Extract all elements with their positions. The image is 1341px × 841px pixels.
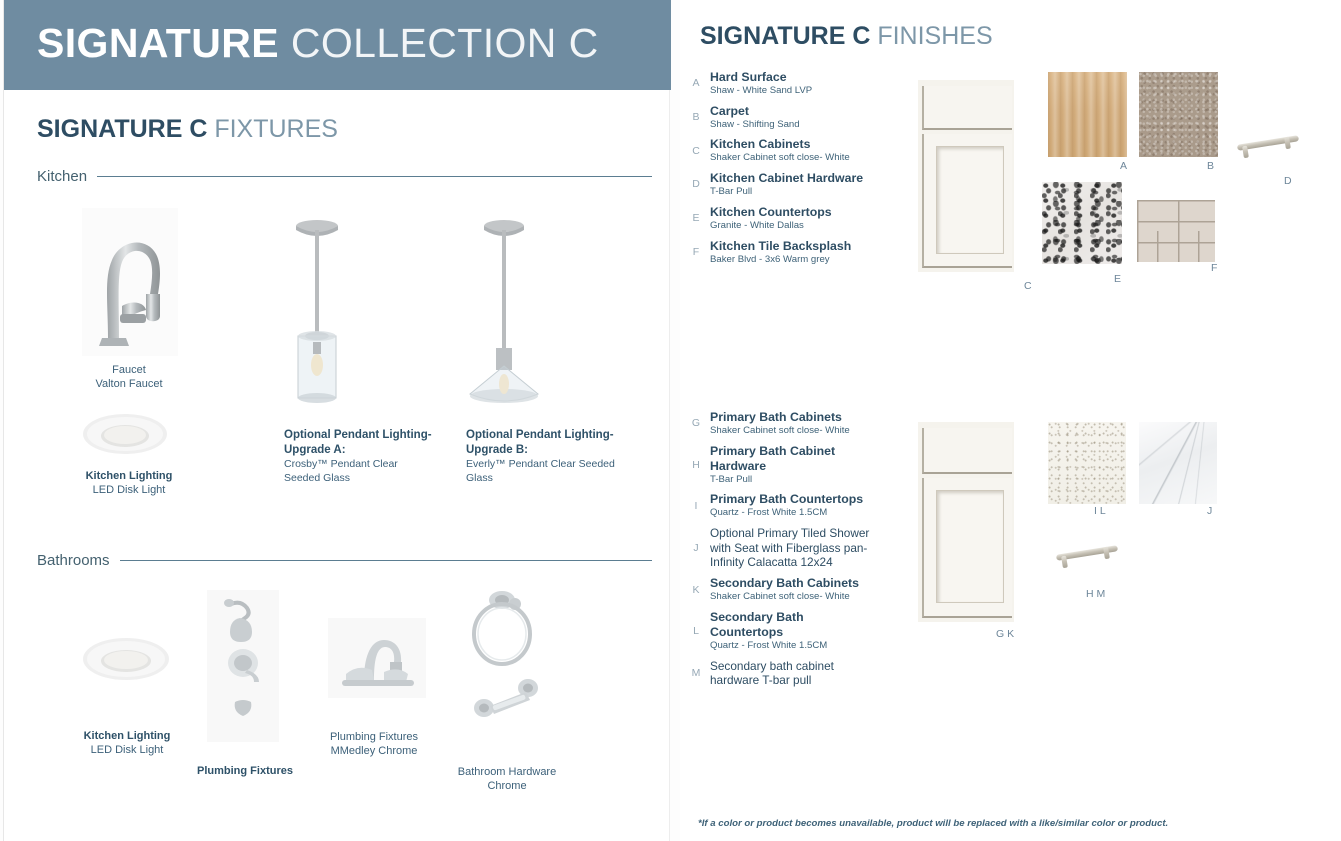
- bath-disk-light-image: [82, 630, 170, 688]
- kitchen-lighting-caption: Kitchen Lighting LED Disk Light: [64, 470, 194, 498]
- legend-item-e[interactable]: E Kitchen Countertops Granite - White Da…: [690, 205, 880, 232]
- swatch-kitchen-hardware[interactable]: [1233, 128, 1303, 162]
- pendant-a-name: Optional Pendant Lighting- Upgrade A:: [284, 428, 434, 458]
- faucet-name: Faucet: [64, 364, 194, 378]
- legend-item-g[interactable]: G Primary Bath Cabinets Shaker Cabinet s…: [690, 410, 880, 437]
- legend-item-d[interactable]: D Kitchen Cabinet Hardware T-Bar Pull: [690, 171, 880, 198]
- legend-item-b[interactable]: B Carpet Shaw - Shifting Sand: [690, 104, 880, 131]
- disclaimer-footnote: *If a color or product becomes unavailab…: [698, 818, 1168, 829]
- finishes-heading-light: FINISHES: [877, 22, 992, 50]
- plumbing-fixtures-lav-sub: MMedley Chrome: [309, 745, 439, 759]
- legend-key: K: [690, 576, 702, 603]
- bath-lighting-caption: Kitchen Lighting LED Disk Light: [62, 730, 192, 758]
- disk-light-icon: [82, 630, 170, 688]
- towel-ring-image: [456, 582, 556, 742]
- lav-faucet-image: [328, 618, 426, 698]
- legend-sub: Shaw - White Sand LVP: [710, 85, 812, 97]
- bathrooms-section-rule: Bathrooms: [37, 552, 652, 569]
- swatch-label-c: C: [1024, 280, 1032, 292]
- swatch-label-a: A: [1120, 160, 1127, 172]
- swatch-hard-surface[interactable]: [1048, 72, 1127, 157]
- legend-name: Kitchen Tile Backsplash: [710, 239, 851, 254]
- t-bar-pull-icon: [1052, 538, 1122, 572]
- fixtures-heading-light: FIXTURES: [214, 115, 338, 143]
- bathrooms-rule-line: [120, 560, 652, 561]
- swatch-label-gk: G K: [996, 628, 1014, 640]
- legend-key: I: [690, 492, 702, 519]
- legend-key: C: [690, 137, 702, 164]
- cabinet-drawer-face: [922, 428, 1012, 474]
- swatch-label-j: J: [1207, 505, 1212, 517]
- pendant-b-sub: Everly™ Pendant Clear Seeded Glass: [466, 458, 616, 485]
- legend-sub: Quartz - Frost White 1.5CM: [710, 640, 880, 652]
- legend-item-c[interactable]: C Kitchen Cabinets Shaker Cabinet soft c…: [690, 137, 880, 164]
- swatch-label-f: F: [1211, 262, 1217, 274]
- hero-title-light: COLLECTION C: [291, 20, 599, 66]
- legend-item-j[interactable]: J Optional Primary Tiled Shower with Sea…: [690, 526, 880, 569]
- pendant-a-image: [282, 208, 352, 404]
- legend-name: Primary Bath Cabinet Hardware: [710, 444, 880, 474]
- kitchen-lighting-name: Kitchen Lighting: [64, 470, 194, 484]
- legend-name: Kitchen Cabinet Hardware: [710, 171, 863, 186]
- legend-item-f[interactable]: F Kitchen Tile Backsplash Baker Blvd - 3…: [690, 239, 880, 266]
- lav-faucet-icon: [328, 618, 426, 698]
- cabinet-drawer-face: [922, 86, 1012, 130]
- hero-title: SIGNATURE COLLECTION C: [37, 20, 599, 67]
- shower-trim-image: [207, 590, 279, 742]
- legend-item-i[interactable]: I Primary Bath Countertops Quartz - Fros…: [690, 492, 880, 519]
- cabinet-door-face: [922, 134, 1012, 268]
- legend-item-m[interactable]: M Secondary bath cabinet hardware T-bar …: [690, 659, 880, 688]
- legend-name: Primary Bath Cabinets: [710, 410, 850, 425]
- kitchen-section-label: Kitchen: [37, 168, 87, 185]
- legend-item-k[interactable]: K Secondary Bath Cabinets Shaker Cabinet…: [690, 576, 880, 603]
- faucet-sub: Valton Faucet: [64, 378, 194, 392]
- fixtures-heading: SIGNATURE C FIXTURES: [37, 115, 338, 144]
- legend-sub: T-Bar Pull: [710, 474, 880, 486]
- towel-ring-icon: [456, 582, 556, 742]
- swatch-bath-hardware[interactable]: [1052, 538, 1122, 572]
- legend-name: Kitchen Countertops: [710, 205, 832, 220]
- swatch-kitchen-cabinet[interactable]: [918, 80, 1014, 272]
- kitchen-lighting-sub: LED Disk Light: [64, 484, 194, 498]
- finishes-panel: SIGNATURE C FINISHES A Hard Surface Shaw…: [680, 0, 1341, 841]
- kitchen-rule-line: [97, 176, 652, 177]
- legend-name: Hard Surface: [710, 70, 812, 85]
- legend-sub: Shaker Cabinet soft close- White: [710, 425, 850, 437]
- legend-key: J: [690, 526, 702, 569]
- legend-key: D: [690, 171, 702, 198]
- hero-banner: SIGNATURE COLLECTION C: [4, 0, 671, 90]
- kitchen-section-rule: Kitchen: [37, 168, 652, 185]
- finishes-heading-bold: SIGNATURE C: [700, 22, 870, 50]
- cabinet-door-panel: [936, 490, 1003, 602]
- plumbing-fixtures-lav-name: Plumbing Fixtures: [309, 731, 439, 745]
- legend-key: G: [690, 410, 702, 437]
- bath-hardware-sub: Chrome: [442, 780, 572, 794]
- shower-trim-icon: [207, 590, 279, 742]
- pendant-bell-icon: [466, 208, 542, 404]
- legend-sub: Shaker Cabinet soft close- White: [710, 591, 859, 603]
- legend-name: Secondary Bath Countertops: [710, 610, 880, 640]
- bathrooms-section-label: Bathrooms: [37, 552, 110, 569]
- legend-sub: Granite - White Dallas: [710, 220, 832, 232]
- legend-sub: Baker Blvd - 3x6 Warm grey: [710, 254, 851, 266]
- lav-faucet-caption: Plumbing Fixtures MMedley Chrome: [309, 731, 439, 759]
- legend-item-a[interactable]: A Hard Surface Shaw - White Sand LVP: [690, 70, 880, 97]
- legend-name: Carpet: [710, 104, 800, 119]
- pendant-a-sub: Crosby™ Pendant Clear Seeded Glass: [284, 458, 434, 485]
- swatch-label-b: B: [1207, 160, 1214, 172]
- fixtures-panel: SIGNATURE COLLECTION C SIGNATURE C FIXTU…: [3, 0, 670, 841]
- legend-key: L: [690, 610, 702, 652]
- faucet-icon: [82, 208, 178, 356]
- fixtures-heading-bold: SIGNATURE C: [37, 115, 207, 143]
- legend-key: M: [690, 659, 702, 688]
- kitchen-faucet-image: [82, 208, 178, 356]
- swatch-kitchen-countertop[interactable]: [1042, 182, 1122, 264]
- legend-name: Primary Bath Countertops: [710, 492, 863, 507]
- pendant-a-caption: Optional Pendant Lighting- Upgrade A: Cr…: [284, 428, 434, 485]
- legend-key: F: [690, 239, 702, 266]
- legend-sub: Shaw - Shifting Sand: [710, 119, 800, 131]
- bath-lighting-name: Kitchen Lighting: [62, 730, 192, 744]
- legend-name: Optional Primary Tiled Shower with Seat …: [710, 526, 880, 569]
- cabinet-door-panel: [936, 146, 1003, 254]
- legend-sub: T-Bar Pull: [710, 186, 863, 198]
- finishes-heading: SIGNATURE C FINISHES: [700, 22, 993, 51]
- pendant-cylinder-icon: [282, 208, 352, 404]
- legend-key: H: [690, 444, 702, 486]
- swatch-carpet[interactable]: [1139, 72, 1218, 157]
- legend-sub: Shaker Cabinet soft close- White: [710, 152, 850, 164]
- disk-light-icon: [82, 406, 168, 462]
- legend-name: Secondary bath cabinet hardware T-bar pu…: [710, 659, 880, 688]
- swatch-label-d: D: [1284, 175, 1292, 187]
- legend-name: Secondary Bath Cabinets: [710, 576, 859, 591]
- bath-hardware-caption: Bathroom Hardware Chrome: [442, 766, 572, 794]
- finishes-legend-bottom: G Primary Bath Cabinets Shaker Cabinet s…: [690, 410, 880, 694]
- swatch-shower-tile[interactable]: [1139, 422, 1217, 504]
- cabinet-door-face: [922, 478, 1012, 618]
- swatch-label-hm: H M: [1086, 588, 1105, 600]
- pendant-b-name: Optional Pendant Lighting- Upgrade B:: [466, 428, 616, 458]
- kitchen-faucet-caption: Faucet Valton Faucet: [64, 364, 194, 392]
- swatch-bath-countertop[interactable]: [1048, 422, 1126, 504]
- led-disk-light-image: [82, 406, 168, 462]
- shower-trim-caption: Plumbing Fixtures: [182, 765, 308, 779]
- collection-sheet: SIGNATURE COLLECTION C SIGNATURE C FIXTU…: [0, 0, 1341, 841]
- legend-item-h[interactable]: H Primary Bath Cabinet Hardware T-Bar Pu…: [690, 444, 880, 486]
- bath-lighting-sub: LED Disk Light: [62, 744, 192, 758]
- swatch-bath-cabinet[interactable]: [918, 422, 1014, 622]
- swatch-label-il: I L: [1094, 505, 1106, 517]
- legend-name: Kitchen Cabinets: [710, 137, 850, 152]
- t-bar-pull-icon: [1233, 128, 1303, 162]
- pendant-b-caption: Optional Pendant Lighting- Upgrade B: Ev…: [466, 428, 616, 485]
- finishes-legend-top: A Hard Surface Shaw - White Sand LVP B C…: [690, 70, 880, 272]
- swatch-kitchen-backsplash[interactable]: [1137, 200, 1215, 262]
- legend-sub: Quartz - Frost White 1.5CM: [710, 507, 863, 519]
- legend-key: A: [690, 70, 702, 97]
- pendant-b-image: [466, 208, 542, 404]
- bath-hardware-name: Bathroom Hardware: [442, 766, 572, 780]
- legend-key: E: [690, 205, 702, 232]
- legend-item-l[interactable]: L Secondary Bath Countertops Quartz - Fr…: [690, 610, 880, 652]
- hero-title-bold: SIGNATURE: [37, 20, 279, 66]
- swatch-label-e: E: [1114, 273, 1121, 285]
- legend-key: B: [690, 104, 702, 131]
- plumbing-fixtures-shower-name: Plumbing Fixtures: [182, 765, 308, 779]
